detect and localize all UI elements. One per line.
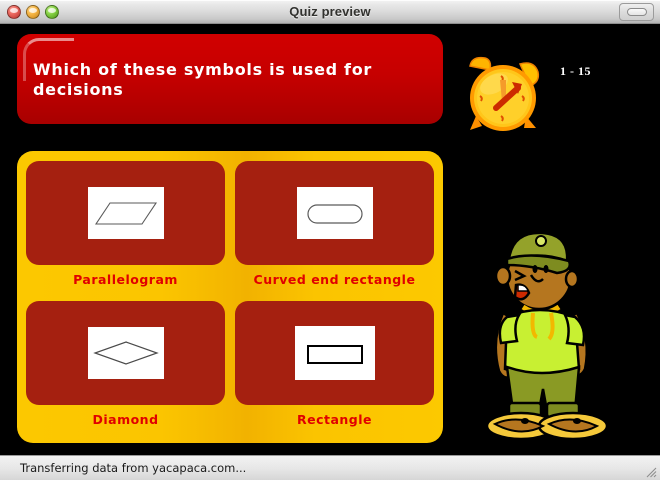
rectangle-icon [303,333,367,373]
answer-option-parallelogram[interactable]: Parallelogram [26,161,225,294]
answer-label: Diamond [92,412,158,427]
parallelogram-icon [94,193,158,233]
status-message: Transferring data from yacapaca.com... [20,461,246,475]
shape-thumbnail [295,326,375,380]
toolbar-toggle-pill-icon [627,8,647,16]
shape-thumbnail [88,327,164,379]
answer-option-curved-end-rectangle[interactable]: Curved end rectangle [235,161,434,294]
question-counter: 1 - 15 [560,64,591,79]
answer-card[interactable] [26,161,225,265]
answer-grid: Parallelogram Curved end rectangle [17,151,443,443]
answer-card[interactable] [26,301,225,405]
status-bar: Transferring data from yacapaca.com... [0,455,660,480]
cartoon-boy-character [473,221,651,443]
toolbar-toggle-button[interactable] [619,3,654,21]
question-banner: Which of these symbols is used for decis… [17,34,443,124]
alarm-clock-icon [462,54,548,138]
quiz-stage: Which of these symbols is used for decis… [0,24,660,455]
traffic-light-group [7,5,59,19]
resize-grip[interactable] [644,465,658,479]
answer-option-rectangle[interactable]: Rectangle [235,301,434,434]
answer-label: Rectangle [297,412,372,427]
answer-panel: Parallelogram Curved end rectangle [17,151,443,443]
shape-thumbnail [88,187,164,239]
minimize-button-icon[interactable] [26,5,40,19]
answer-card[interactable] [235,161,434,265]
window-titlebar[interactable]: Quiz preview [0,0,660,24]
answer-label: Curved end rectangle [254,272,416,287]
shape-thumbnail [297,187,373,239]
diamond-icon [93,333,159,373]
answer-label: Parallelogram [73,272,178,287]
window-title: Quiz preview [0,4,660,19]
close-button-icon[interactable] [7,5,21,19]
quiz-preview-window: Quiz preview Which of these symbols is u… [0,0,660,480]
zoom-button-icon[interactable] [45,5,59,19]
stadium-icon [303,193,367,233]
answer-option-diamond[interactable]: Diamond [26,301,225,434]
question-text: Which of these symbols is used for decis… [33,60,429,100]
answer-card[interactable] [235,301,434,405]
